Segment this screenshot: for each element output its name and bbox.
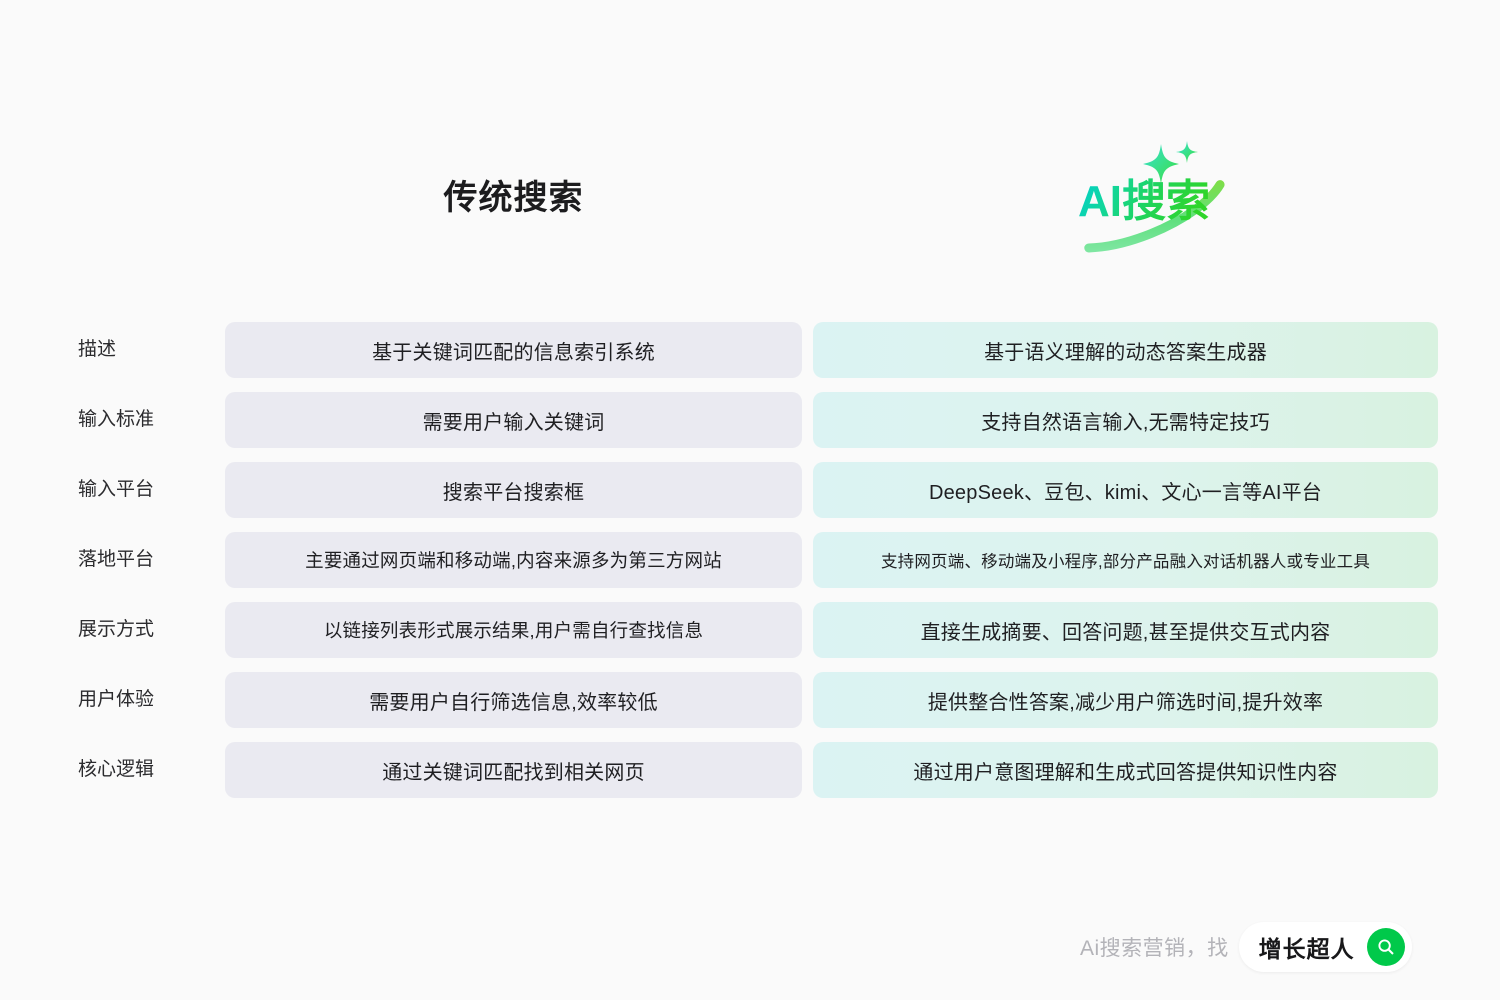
cell-text: 搜索平台搜索框 [443, 476, 584, 505]
logo-wordmark: AI搜索 [1078, 177, 1210, 226]
cell-text: 主要通过网页端和移动端,内容来源多为第三方网站 [305, 547, 722, 573]
cell-ai: 支持网页端、移动端及小程序,部分产品融入对话机器人或专业工具 [813, 532, 1438, 588]
cell-traditional: 需要用户输入关键词 [225, 392, 802, 448]
row-label: 展示方式 [78, 602, 154, 658]
cell-ai: 支持自然语言输入,无需特定技巧 [813, 392, 1438, 448]
cell-ai: 基于语义理解的动态答案生成器 [813, 322, 1438, 378]
cell-text: 需要用户自行筛选信息,效率较低 [369, 686, 658, 715]
cell-traditional: 基于关键词匹配的信息索引系统 [225, 322, 802, 378]
cell-text: DeepSeek、豆包、kimi、文心一言等AI平台 [929, 476, 1322, 505]
row-label: 落地平台 [78, 532, 154, 588]
row-label: 输入平台 [78, 462, 154, 518]
cell-text: 支持网页端、移动端及小程序,部分产品融入对话机器人或专业工具 [881, 548, 1370, 572]
table-row: 输入平台 搜索平台搜索框 DeepSeek、豆包、kimi、文心一言等AI平台 [0, 462, 1500, 518]
cell-traditional: 搜索平台搜索框 [225, 462, 802, 518]
row-label: 描述 [78, 322, 116, 378]
cell-traditional: 通过关键词匹配找到相关网页 [225, 742, 802, 798]
watermark-prefix: Ai搜索营销，找 [1080, 932, 1229, 962]
table-row: 落地平台 主要通过网页端和移动端,内容来源多为第三方网站 支持网页端、移动端及小… [0, 532, 1500, 588]
table-row: 核心逻辑 通过关键词匹配找到相关网页 通过用户意图理解和生成式回答提供知识性内容 [0, 742, 1500, 798]
row-label: 核心逻辑 [78, 742, 154, 798]
slide-canvas: 传统搜索 [0, 0, 1500, 1000]
cell-ai: 提供整合性答案,减少用户筛选时间,提升效率 [813, 672, 1438, 728]
cell-ai: 通过用户意图理解和生成式回答提供知识性内容 [813, 742, 1438, 798]
cell-text: 支持自然语言输入,无需特定技巧 [981, 406, 1270, 435]
brand-pill[interactable]: 增长超人 [1239, 922, 1412, 972]
table-row: 用户体验 需要用户自行筛选信息,效率较低 提供整合性答案,减少用户筛选时间,提升… [0, 672, 1500, 728]
watermark: Ai搜索营销，找 增长超人 [1080, 922, 1412, 972]
ai-search-logo: AI搜索 [1030, 128, 1245, 258]
comparison-table: 描述 基于关键词匹配的信息索引系统 基于语义理解的动态答案生成器 输入标准 需要… [0, 322, 1500, 812]
row-label: 输入标准 [78, 392, 154, 448]
cell-text: 提供整合性答案,减少用户筛选时间,提升效率 [928, 686, 1323, 715]
cell-text: 基于关键词匹配的信息索引系统 [372, 336, 655, 365]
table-row: 描述 基于关键词匹配的信息索引系统 基于语义理解的动态答案生成器 [0, 322, 1500, 378]
cell-ai: 直接生成摘要、回答问题,甚至提供交互式内容 [813, 602, 1438, 658]
cell-traditional: 以链接列表形式展示结果,用户需自行查找信息 [225, 602, 802, 658]
logo-sparkle-small [1176, 141, 1198, 163]
cell-text: 以链接列表形式展示结果,用户需自行查找信息 [324, 617, 703, 643]
column-header-traditional: 传统搜索 [225, 170, 802, 219]
brand-name: 增长超人 [1259, 930, 1355, 964]
cell-traditional: 需要用户自行筛选信息,效率较低 [225, 672, 802, 728]
cell-text: 通过关键词匹配找到相关网页 [382, 756, 645, 785]
row-label: 用户体验 [78, 672, 154, 728]
cell-ai: DeepSeek、豆包、kimi、文心一言等AI平台 [813, 462, 1438, 518]
table-row: 展示方式 以链接列表形式展示结果,用户需自行查找信息 直接生成摘要、回答问题,甚… [0, 602, 1500, 658]
search-icon[interactable] [1367, 928, 1405, 966]
table-row: 输入标准 需要用户输入关键词 支持自然语言输入,无需特定技巧 [0, 392, 1500, 448]
cell-traditional: 主要通过网页端和移动端,内容来源多为第三方网站 [225, 532, 802, 588]
cell-text: 通过用户意图理解和生成式回答提供知识性内容 [913, 756, 1337, 785]
cell-text: 直接生成摘要、回答问题,甚至提供交互式内容 [921, 616, 1331, 645]
cell-text: 基于语义理解的动态答案生成器 [984, 336, 1267, 365]
cell-text: 需要用户输入关键词 [423, 406, 605, 435]
